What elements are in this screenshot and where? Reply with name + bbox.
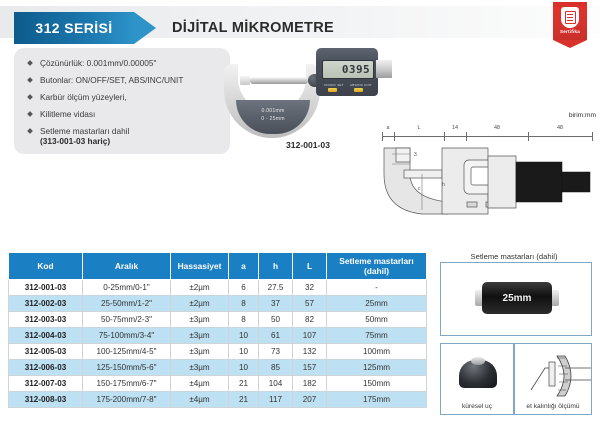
diamond-bullet-icon	[27, 111, 33, 117]
cell-setleme: 175mm	[327, 392, 427, 408]
table-row[interactable]: 312-007-03 150-175mm/6-7" ±4µm 21 104 18…	[9, 376, 427, 392]
pad-resolution-text: 0.001mm	[236, 108, 310, 114]
cell-a: 8	[229, 296, 259, 312]
certificate-badge: Sertifika	[553, 2, 587, 48]
gauge-label: 25mm	[503, 293, 532, 304]
cell-hassasiyet: ±3µm	[171, 344, 229, 360]
accessory-box-wall-thickness: et kalınlığı ölçümü	[514, 343, 592, 415]
cell-hassasiyet: ±3µm	[171, 312, 229, 328]
features-panel: Çözünürlük: 0.001mm/0.00005" Butonlar: O…	[14, 48, 230, 154]
table-column-header-a: a	[229, 253, 259, 280]
cell-h: 37	[259, 296, 293, 312]
cell-l: 32	[293, 280, 327, 296]
table-row[interactable]: 312-001-03 0-25mm/0-1" ±2µm 6 27.5 32 -	[9, 280, 427, 296]
table-column-header-aralik: Aralık	[83, 253, 171, 280]
svg-text:c: c	[418, 186, 421, 192]
cell-h: 85	[259, 360, 293, 376]
micrometer-lcd-display: 0395	[322, 60, 374, 79]
accessory-label-wall-thickness: et kalınlığı ölçümü	[515, 403, 591, 410]
product-spec-sheet: 312 SERİSİ DİJİTAL MİKROMETRE Sertifika …	[0, 0, 600, 423]
dimension-baseline	[382, 136, 592, 137]
cell-setleme: 150mm	[327, 376, 427, 392]
cell-l: 107	[293, 328, 327, 344]
cell-setleme: 100mm	[327, 344, 427, 360]
micrometer-spindle	[250, 77, 308, 84]
cell-kod: 312-001-03	[9, 280, 83, 296]
cell-setleme: 25mm	[327, 296, 427, 312]
dimension-label-14: 14	[452, 125, 458, 131]
dimension-label-a: a	[387, 125, 390, 131]
cell-hassasiyet: ±2µm	[171, 296, 229, 312]
feature-item: Çözünürlük: 0.001mm/0.00005"	[28, 58, 228, 68]
cell-a: 6	[229, 280, 259, 296]
table-row[interactable]: 312-003-03 50-75mm/2-3" ±3µm 8 50 82 50m…	[9, 312, 427, 328]
diamond-bullet-icon	[27, 60, 33, 66]
drawing-unit-note: birim:mm	[569, 112, 596, 119]
on-off-set-button[interactable]	[328, 88, 337, 92]
table-row[interactable]: 312-002-03 25-50mm/1-2" ±2µm 8 37 57 25m…	[9, 296, 427, 312]
cell-l: 182	[293, 376, 327, 392]
cell-hassasiyet: ±4µm	[171, 392, 229, 408]
wall-thickness-measurement-icon	[515, 350, 591, 402]
feature-item-label: Kilitleme vidası	[40, 109, 95, 119]
cell-setleme: 125mm	[327, 360, 427, 376]
cell-hassasiyet: ±3µm	[171, 328, 229, 344]
cell-kod: 312-006-03	[9, 360, 83, 376]
table-body: 312-001-03 0-25mm/0-1" ±2µm 6 27.5 32 - …	[9, 280, 427, 408]
cell-hassasiyet: ±4µm	[171, 376, 229, 392]
cell-aralik: 50-75mm/2-3"	[83, 312, 171, 328]
feature-item: Kilitleme vidası	[28, 109, 228, 119]
table-column-header-setleme: Setleme mastarları (dahil)	[327, 253, 427, 280]
cell-h: 117	[259, 392, 293, 408]
feature-item-label: Karbür ölçüm yüzeyleri,	[40, 92, 127, 102]
cell-hassasiyet: ±2µm	[171, 280, 229, 296]
feature-item: Butonlar: ON/OFF/SET, ABS/INC/UNIT	[28, 75, 228, 85]
feature-item: Karbür ölçüm yüzeyleri,	[28, 92, 228, 102]
cell-a: 21	[229, 376, 259, 392]
cell-setleme: 50mm	[327, 312, 427, 328]
cell-aralik: 75-100mm/3-4"	[83, 328, 171, 344]
cell-h: 61	[259, 328, 293, 344]
accessory-label-ball-tip: küresel uç	[441, 403, 513, 410]
cell-h: 104	[259, 376, 293, 392]
header-banner: 312 SERİSİ DİJİTAL MİKROMETRE	[0, 6, 600, 38]
cell-kod: 312-007-03	[9, 376, 83, 392]
banner-arrow-icon	[134, 12, 156, 44]
certificate-shield-icon	[561, 7, 579, 28]
series-tab-label: 312 SERİSİ	[35, 20, 112, 36]
cell-kod: 312-002-03	[9, 296, 83, 312]
cell-l: 207	[293, 392, 327, 408]
micrometer-outline-drawing: 3 h c	[376, 140, 598, 230]
dimension-label-L: L	[418, 125, 421, 131]
table-row[interactable]: 312-008-03 175-200mm/7-8" ±4µm 21 117 20…	[9, 392, 427, 408]
cell-setleme: -	[327, 280, 427, 296]
button-right-label: ABS/INC UNIT	[350, 83, 372, 87]
micrometer-thimble	[376, 60, 392, 78]
technical-drawing: birim:mm a L 14 48 48	[376, 112, 598, 230]
cell-aralik: 0-25mm/0-1"	[83, 280, 171, 296]
table-header-row: Kod Aralık Hassasiyet a h L Setleme mast…	[9, 253, 427, 280]
cell-hassasiyet: ±3µm	[171, 360, 229, 376]
cell-a: 8	[229, 312, 259, 328]
table-row[interactable]: 312-006-03 125-150mm/5-6" ±3µm 10 85 157…	[9, 360, 427, 376]
cell-kod: 312-008-03	[9, 392, 83, 408]
feature-item-label: Çözünürlük: 0.001mm/0.00005"	[40, 58, 156, 68]
diamond-bullet-icon	[27, 77, 33, 83]
features-note: (313-001-03 hariç)	[40, 136, 110, 146]
table-column-header-hassasiyet: Hassasiyet	[171, 253, 229, 280]
dimension-label-48a: 48	[494, 125, 500, 131]
series-tab: 312 SERİSİ	[14, 12, 134, 44]
pad-range-text: 0 - 25mm	[236, 116, 310, 122]
button-left-label: ON/OFF SET	[324, 83, 344, 87]
specification-table-wrapper: Kod Aralık Hassasiyet a h L Setleme mast…	[8, 252, 426, 408]
cell-h: 50	[259, 312, 293, 328]
cell-aralik: 100-125mm/4-5"	[83, 344, 171, 360]
diamond-bullet-icon	[27, 128, 33, 134]
table-column-header-kod: Kod	[9, 253, 83, 280]
specification-table: Kod Aralık Hassasiyet a h L Setleme mast…	[8, 252, 427, 408]
table-row[interactable]: 312-004-03 75-100mm/3-4" ±3µm 10 61 107 …	[9, 328, 427, 344]
feature-item-label: Setleme mastarları dahil	[40, 126, 129, 136]
lcd-value: 0395	[342, 63, 373, 76]
cell-aralik: 175-200mm/7-8"	[83, 392, 171, 408]
abs-inc-unit-button[interactable]	[354, 88, 363, 92]
cell-kod: 312-004-03	[9, 328, 83, 344]
features-list: Çözünürlük: 0.001mm/0.00005" Butonlar: O…	[28, 58, 228, 143]
svg-text:h: h	[442, 182, 445, 188]
feature-item: Setleme mastarları dahil	[28, 126, 228, 136]
dimension-label-48b: 48	[557, 125, 563, 131]
cell-h: 73	[259, 344, 293, 360]
cell-a: 10	[229, 344, 259, 360]
table-column-header-l: L	[293, 253, 327, 280]
certificate-badge-label: Sertifika	[553, 29, 587, 34]
cell-kod: 312-003-03	[9, 312, 83, 328]
certificate-document-icon	[565, 11, 576, 24]
product-photo-caption: 312-001-03	[224, 140, 392, 150]
certificate-badge-ribbon-point	[553, 40, 587, 48]
ball-tip-icon	[459, 360, 497, 388]
cell-aralik: 25-50mm/1-2"	[83, 296, 171, 312]
svg-text:3: 3	[414, 152, 417, 158]
accessory-box-ball-tip: küresel uç	[440, 343, 514, 415]
cell-l: 132	[293, 344, 327, 360]
cell-a: 10	[229, 360, 259, 376]
cell-aralik: 150-175mm/6-7"	[83, 376, 171, 392]
cell-kod: 312-005-03	[9, 344, 83, 360]
setting-standards-title: Setleme mastarları (dahil)	[434, 252, 594, 261]
table-row[interactable]: 312-005-03 100-125mm/4-5" ±3µm 10 73 132…	[9, 344, 427, 360]
cell-aralik: 125-150mm/5-6"	[83, 360, 171, 376]
cell-setleme: 75mm	[327, 328, 427, 344]
diamond-bullet-icon	[27, 94, 33, 100]
setting-gauge-image: 25mm	[482, 282, 552, 314]
cell-a: 10	[229, 328, 259, 344]
micrometer-anvil	[240, 76, 250, 85]
cell-h: 27.5	[259, 280, 293, 296]
cell-l: 57	[293, 296, 327, 312]
table-column-header-h: h	[259, 253, 293, 280]
cell-l: 157	[293, 360, 327, 376]
product-photo: 0395 ON/OFF SET ABS/INC UNIT 0.001mm 0 -…	[224, 38, 392, 138]
cell-a: 21	[229, 392, 259, 408]
cell-l: 82	[293, 312, 327, 328]
feature-item-label: Butonlar: ON/OFF/SET, ABS/INC/UNIT	[40, 75, 183, 85]
